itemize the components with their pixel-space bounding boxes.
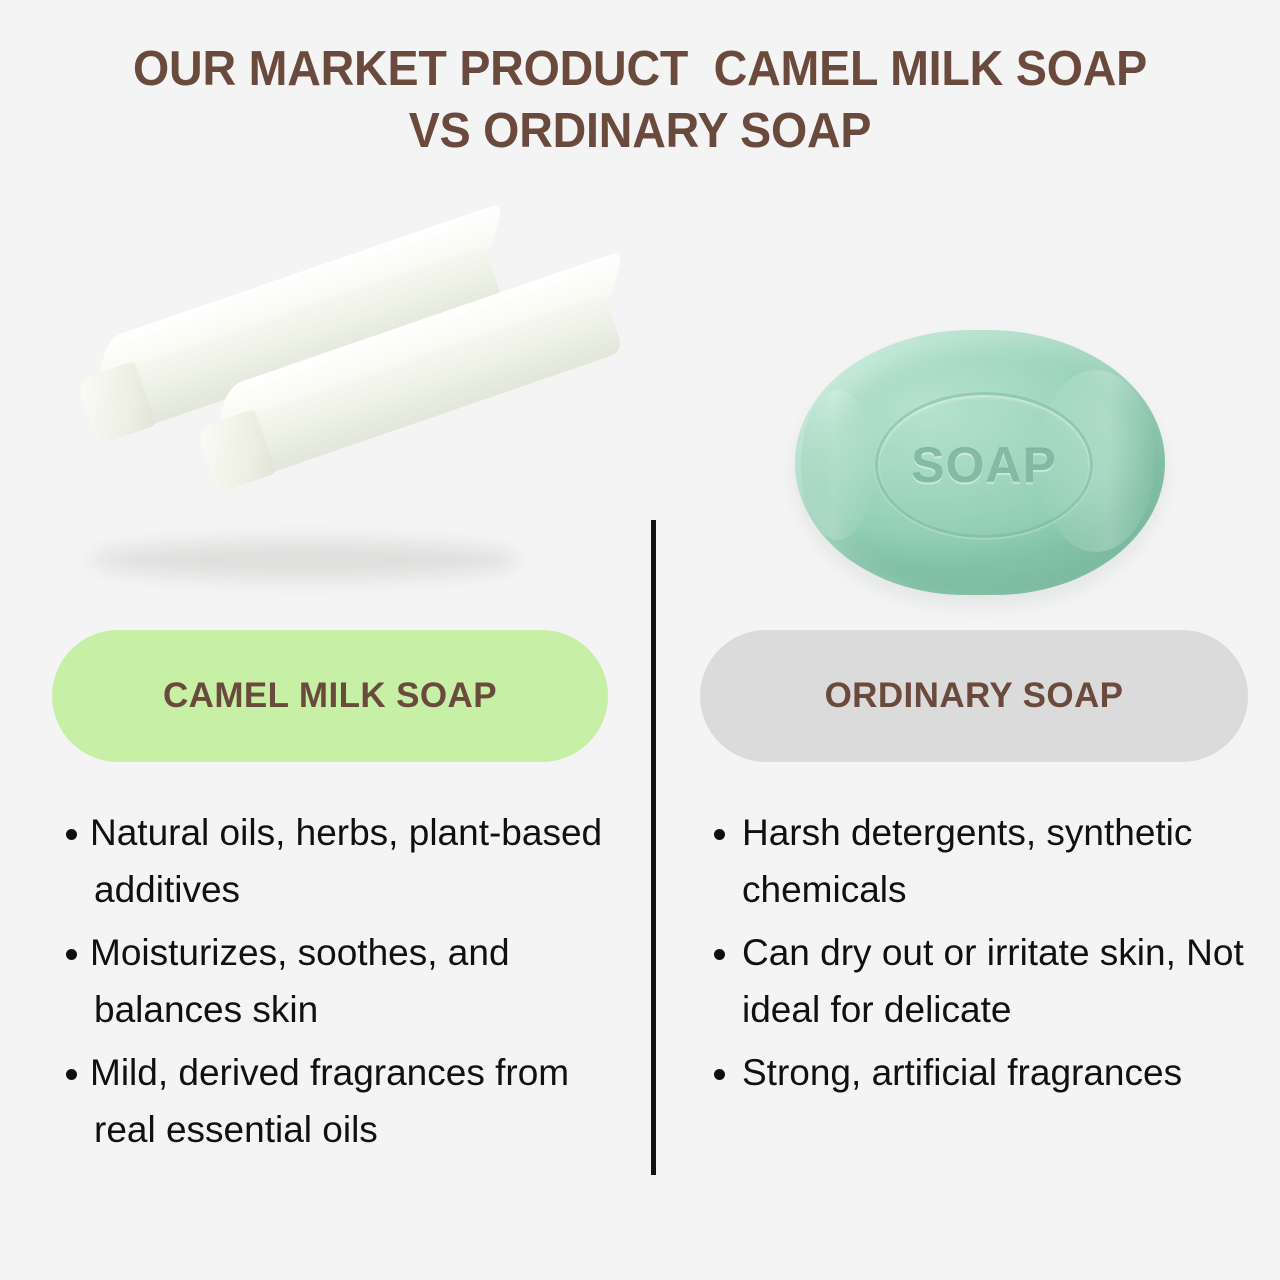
ordinary-soap-badge: ORDINARY SOAP bbox=[700, 630, 1248, 762]
ordinary-soap-column: ORDINARY SOAP Harsh detergents, syntheti… bbox=[700, 630, 1248, 1107]
title-line-2: VS ORDINARY SOAP bbox=[32, 100, 1248, 162]
page-title: OUR MARKET PRODUCT CAMEL MILK SOAP VS OR… bbox=[0, 38, 1280, 162]
ordinary-soap-body: SOAP bbox=[795, 330, 1165, 595]
list-item: Mild, derived fragrances from real essen… bbox=[52, 1044, 608, 1158]
camel-milk-soap-badge: CAMEL MILK SOAP bbox=[52, 630, 608, 762]
soap-highlight-left bbox=[801, 390, 875, 540]
camel-milk-soap-badge-label: CAMEL MILK SOAP bbox=[163, 676, 497, 716]
camel-milk-soap-bars-image bbox=[60, 240, 620, 620]
list-item: Strong, artificial fragrances bbox=[700, 1044, 1248, 1101]
list-item: Natural oils, herbs, plant-based additiv… bbox=[52, 804, 608, 918]
list-item: Can dry out or irritate skin, Not ideal … bbox=[700, 924, 1248, 1038]
ordinary-soap-image: SOAP bbox=[795, 330, 1165, 595]
column-divider bbox=[651, 520, 656, 1175]
ordinary-soap-drawbacks-list: Harsh detergents, synthetic chemicals Ca… bbox=[700, 804, 1248, 1101]
camel-milk-soap-column: CAMEL MILK SOAP Natural oils, herbs, pla… bbox=[52, 630, 608, 1164]
title-line-1: OUR MARKET PRODUCT CAMEL MILK SOAP bbox=[32, 38, 1248, 100]
list-item: Harsh detergents, synthetic chemicals bbox=[700, 804, 1248, 918]
ordinary-soap-badge-label: ORDINARY SOAP bbox=[825, 676, 1124, 716]
camel-milk-soap-benefits-list: Natural oils, herbs, plant-based additiv… bbox=[52, 804, 608, 1158]
soap-bars-shadow bbox=[90, 540, 520, 580]
list-item: Moisturizes, soothes, and balances skin bbox=[52, 924, 608, 1038]
soap-emboss-label: SOAP bbox=[911, 436, 1057, 494]
soap-emboss-oval: SOAP bbox=[875, 392, 1093, 538]
product-images-row: SOAP bbox=[0, 230, 1280, 620]
